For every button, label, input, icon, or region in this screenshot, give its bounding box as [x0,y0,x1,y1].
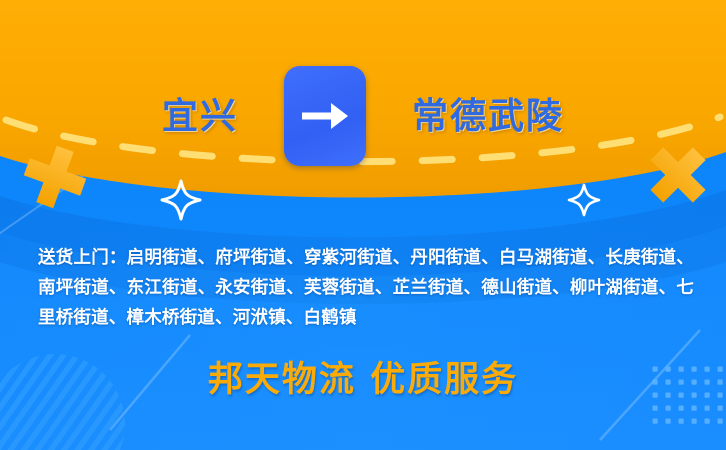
origin-city-label: 宜兴 [162,98,238,134]
route-header: 宜兴 常德武陵 [0,66,726,166]
arrow-right-icon [300,99,350,133]
delivery-streets-text: 送货上门：启明街道、府坪街道、穿紫河街道、丹阳街道、白马湖街道、长庚街道、南坪街… [38,243,694,333]
company-slogan: 邦天物流 优质服务 [0,362,726,397]
arrow-right-badge [284,66,366,166]
destination-city-label: 常德武陵 [412,98,564,134]
logistics-banner: 宜兴 常德武陵 送货上门：启明街道、府坪街道、穿紫河街道、丹阳街道、白马湖街道、… [0,0,726,450]
